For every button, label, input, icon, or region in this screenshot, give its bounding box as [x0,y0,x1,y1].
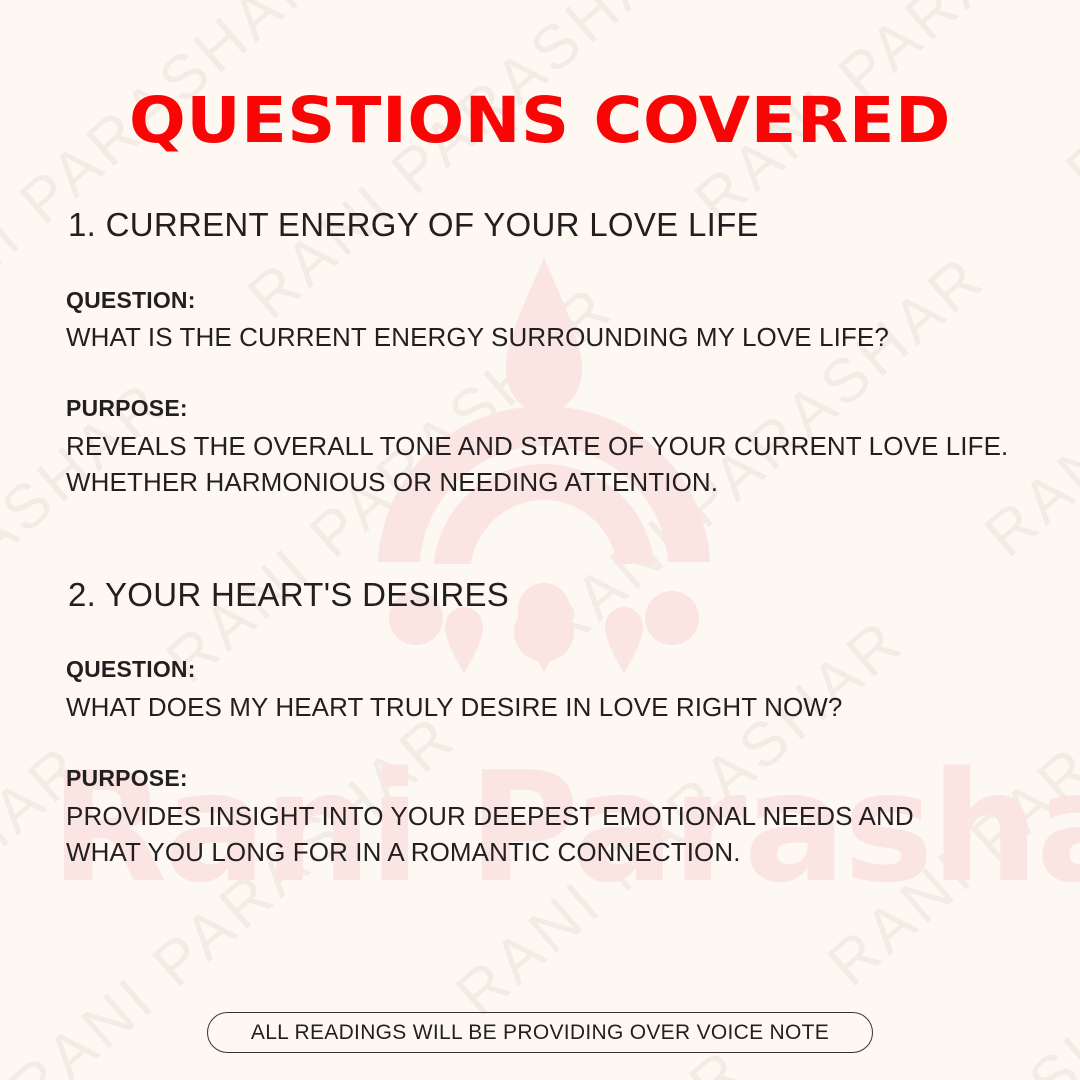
section-2-question-label: QUESTION: [66,655,1046,684]
section-1-purpose-text: REVEALS THE OVERALL TONE AND STATE OF YO… [66,429,1046,501]
section-2-purpose-label: PURPOSE: [66,764,1046,793]
section-1-question-block: QUESTION: WHAT IS THE CURRENT ENERGY SUR… [66,286,1046,357]
sections-container: 1. CURRENT ENERGY OF YOUR LOVE LIFE QUES… [66,205,1046,870]
section-1-purpose-label: PURPOSE: [66,394,1046,423]
section-2-purpose-text: PROVIDES INSIGHT INTO YOUR DEEPEST EMOTI… [66,799,1046,871]
slide-content: QUESTIONS COVERED 1. CURRENT ENERGY OF Y… [0,0,1080,1080]
slide-canvas: RANI PARASHAR RANI PARASHAR RANI PARASHA… [0,0,1080,1080]
section-1-purpose-block: PURPOSE: REVEALS THE OVERALL TONE AND ST… [66,394,1046,501]
section-2-purpose-block: PURPOSE: PROVIDES INSIGHT INTO YOUR DEEP… [66,764,1046,871]
section-2-question-text: WHAT DOES MY HEART TRULY DESIRE IN LOVE … [66,690,1046,726]
voice-note-badge-label: ALL READINGS WILL BE PROVIDING OVER VOIC… [251,1021,829,1045]
section-2: 2. YOUR HEART'S DESIRES QUESTION: WHAT D… [66,575,1046,871]
voice-note-badge: ALL READINGS WILL BE PROVIDING OVER VOIC… [207,1012,873,1053]
section-1-question-text: WHAT IS THE CURRENT ENERGY SURROUNDING M… [66,320,1046,356]
page-title: QUESTIONS COVERED [0,84,1080,157]
section-1-question-label: QUESTION: [66,286,1046,315]
section-1-heading: 1. CURRENT ENERGY OF YOUR LOVE LIFE [68,205,1046,245]
section-2-heading: 2. YOUR HEART'S DESIRES [68,575,1046,615]
section-1: 1. CURRENT ENERGY OF YOUR LOVE LIFE QUES… [66,205,1046,501]
section-2-question-block: QUESTION: WHAT DOES MY HEART TRULY DESIR… [66,655,1046,726]
